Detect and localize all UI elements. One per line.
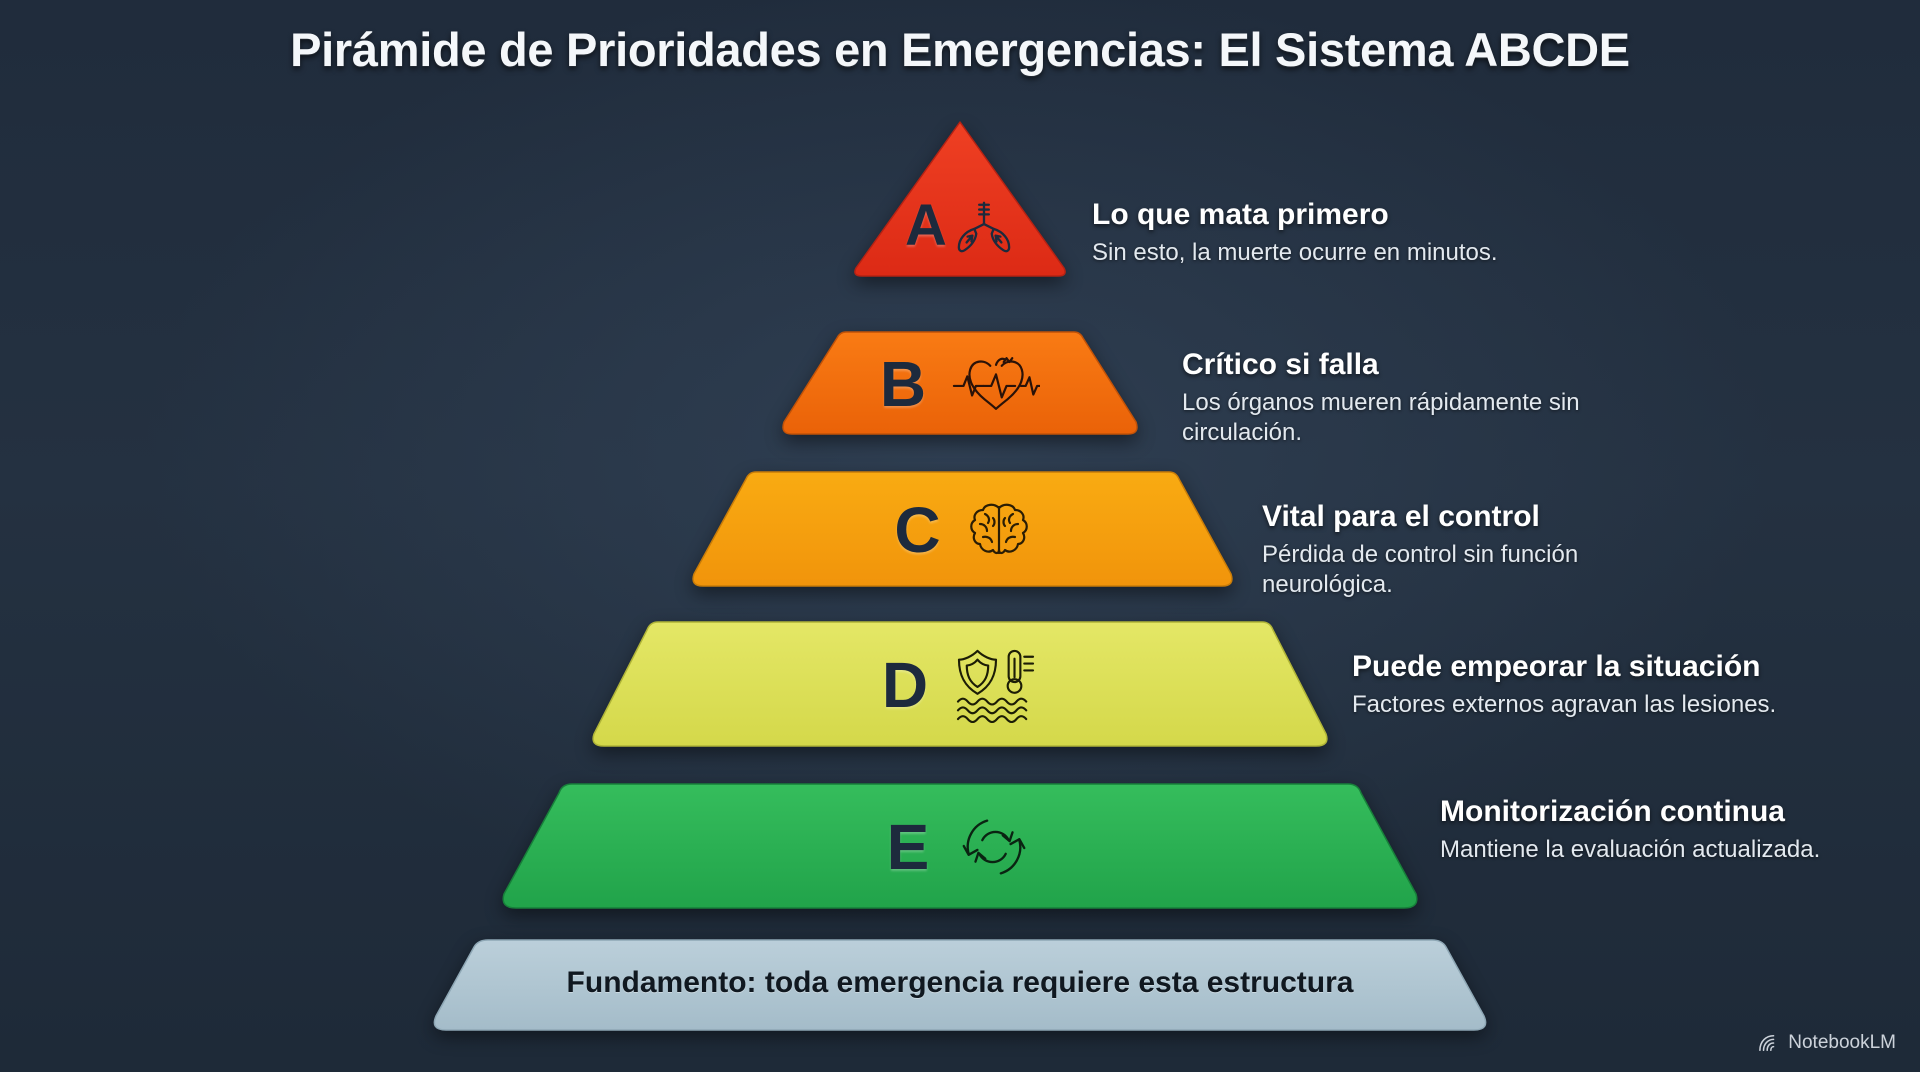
callout-e-title: Monitorización continua	[1440, 795, 1820, 830]
level-a-letter: A	[905, 197, 947, 255]
level-c-letter: C	[894, 498, 940, 562]
notebooklm-spiral-icon	[1758, 1033, 1780, 1053]
notebooklm-label: NotebookLM	[1788, 1032, 1896, 1054]
pyramid-foundation[interactable]: Fundamento: toda emergencia requiere est…	[430, 938, 1490, 1034]
callout-level-c: Vital para el control Pérdida de control…	[1262, 500, 1692, 600]
pyramid-level-a[interactable]: A	[850, 118, 1070, 278]
callout-level-d: Puede empeorar la situación Factores ext…	[1352, 650, 1776, 720]
pyramid-level-e[interactable]: E	[500, 782, 1420, 912]
lungs-icon	[953, 197, 1015, 255]
shield-thermometer-waves-icon	[954, 647, 1038, 723]
pyramid-level-d[interactable]: D	[590, 620, 1330, 750]
refresh-cycle-icon	[955, 808, 1033, 886]
infographic-stage: Pirámide de Prioridades en Emergencias: …	[0, 0, 1920, 1072]
callout-level-a: Lo que mata primero Sin esto, la muerte …	[1092, 198, 1498, 268]
callout-a-title: Lo que mata primero	[1092, 198, 1498, 233]
pyramid-level-c[interactable]: C	[690, 470, 1235, 590]
callout-e-description: Mantiene la evaluación actualizada.	[1440, 835, 1820, 865]
level-b-letter: B	[880, 352, 926, 416]
callout-d-title: Puede empeorar la situación	[1352, 650, 1776, 685]
callout-level-e: Monitorización continua Mantiene la eval…	[1440, 795, 1820, 865]
callout-b-description: Los órganos mueren rápidamente sin circu…	[1182, 388, 1612, 448]
callout-c-description: Pérdida de control sin función neurológi…	[1262, 540, 1692, 600]
foundation-label: Fundamento: toda emergencia requiere est…	[430, 938, 1490, 1034]
brain-icon	[967, 498, 1031, 562]
level-d-letter: D	[882, 653, 928, 717]
callout-b-title: Crítico si falla	[1182, 348, 1612, 383]
callout-d-description: Factores externos agravan las lesiones.	[1352, 690, 1776, 720]
callout-level-b: Crítico si falla Los órganos mueren rápi…	[1182, 348, 1612, 448]
callout-a-description: Sin esto, la muerte ocurre en minutos.	[1092, 238, 1498, 268]
level-e-letter: E	[887, 815, 930, 879]
heart-ecg-icon	[952, 353, 1040, 415]
pyramid-level-b[interactable]: B	[780, 330, 1140, 438]
callout-c-title: Vital para el control	[1262, 500, 1692, 535]
notebooklm-watermark: NotebookLM	[1758, 1032, 1896, 1054]
